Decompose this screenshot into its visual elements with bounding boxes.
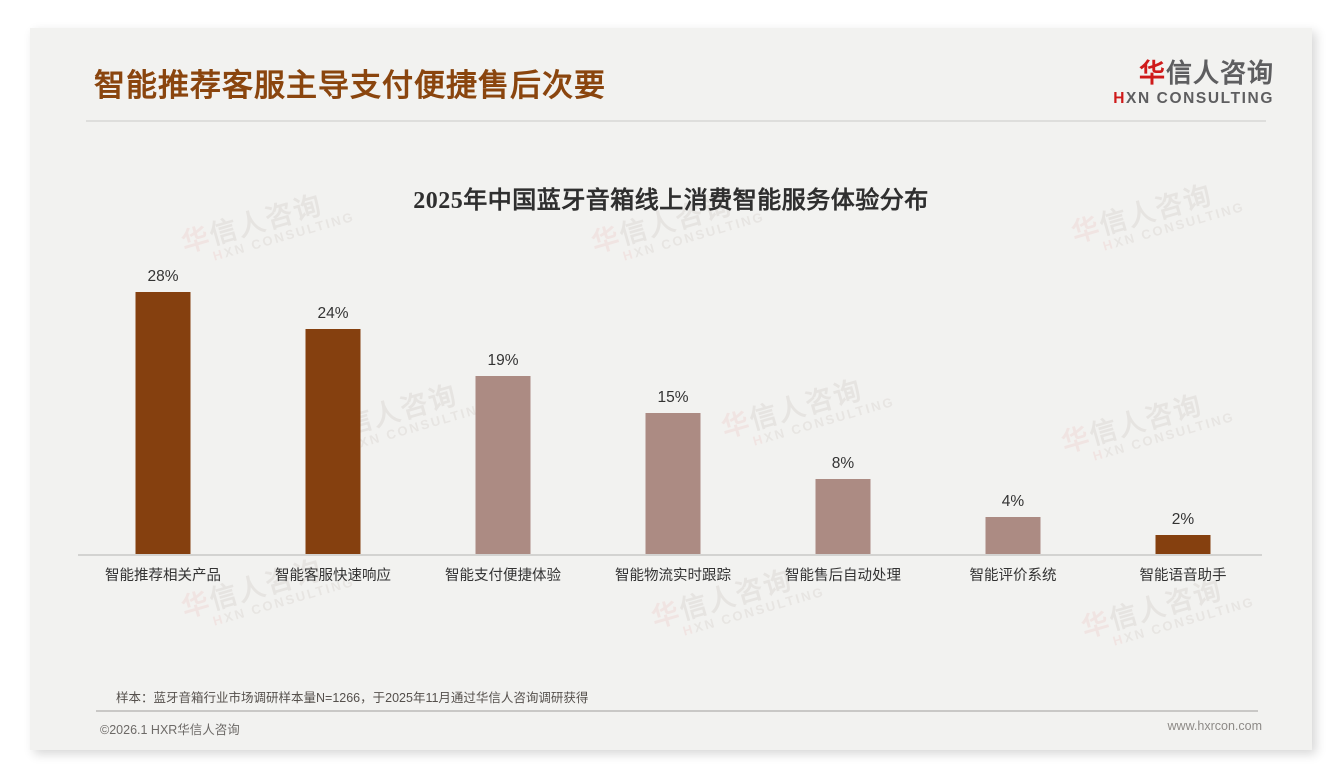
slide-canvas: 华信人咨询HXN CONSULTING华信人咨询HXN CONSULTING华信…	[30, 28, 1312, 750]
bar[interactable]	[136, 292, 191, 554]
logo-chinese-text: 华信人咨询	[1113, 59, 1274, 88]
logo-cn-rest: 信人咨询	[1166, 58, 1274, 88]
bar-value-label: 24%	[317, 305, 348, 323]
footer-divider	[96, 710, 1258, 712]
bar-slot: 28%	[78, 204, 248, 554]
bar-value-label: 19%	[487, 352, 518, 370]
bar-value-label: 8%	[832, 455, 854, 473]
bar-value-label: 28%	[147, 268, 178, 286]
bar-value-label: 15%	[657, 389, 688, 407]
page-title: 智能推荐客服主导支付便捷售后次要	[94, 60, 606, 105]
bar-slot: 19%	[418, 204, 588, 554]
bar-value-label: 4%	[1002, 493, 1024, 511]
sample-footnote: 样本：蓝牙音箱行业市场调研样本量N=1266，于2025年11月通过华信人咨询调…	[116, 687, 588, 706]
bar-value-label: 2%	[1172, 511, 1194, 529]
bar-slot: 4%	[928, 204, 1098, 554]
logo-english-text: HXN CONSULTING	[1113, 90, 1274, 108]
logo-en-rest: XN CONSULTING	[1126, 90, 1274, 107]
x-axis-category-label: 智能评价系统	[928, 564, 1098, 585]
x-axis-category-label: 智能推荐相关产品	[78, 564, 248, 585]
bar-slot: 15%	[588, 204, 758, 554]
copyright-text: ©2026.1 HXR华信人咨询	[100, 719, 240, 738]
x-axis-line	[78, 554, 1262, 556]
bar[interactable]	[646, 413, 701, 554]
website-url[interactable]: www.hxrcon.com	[1168, 719, 1262, 733]
brand-logo: 华信人咨询 HXN CONSULTING	[1113, 59, 1274, 108]
x-axis-category-label: 智能语音助手	[1098, 564, 1268, 585]
x-axis-category-label: 智能支付便捷体验	[418, 564, 588, 585]
bar[interactable]	[1156, 535, 1211, 554]
logo-h-char: H	[1113, 90, 1126, 107]
logo-hua-char: 华	[1139, 58, 1166, 88]
x-axis-category-label: 智能客服快速响应	[248, 564, 418, 585]
header-divider	[86, 120, 1266, 122]
bar-chart-plot-area: 28%24%19%15%8%4%2%	[78, 204, 1268, 554]
bar[interactable]	[986, 517, 1041, 554]
x-axis-category-label: 智能物流实时跟踪	[588, 564, 758, 585]
bar-slot: 2%	[1098, 204, 1268, 554]
x-axis-category-label: 智能售后自动处理	[758, 564, 928, 585]
bar[interactable]	[816, 479, 871, 554]
bar-slot: 8%	[758, 204, 928, 554]
bar[interactable]	[476, 376, 531, 554]
bar-slot: 24%	[248, 204, 418, 554]
bar[interactable]	[306, 329, 361, 554]
